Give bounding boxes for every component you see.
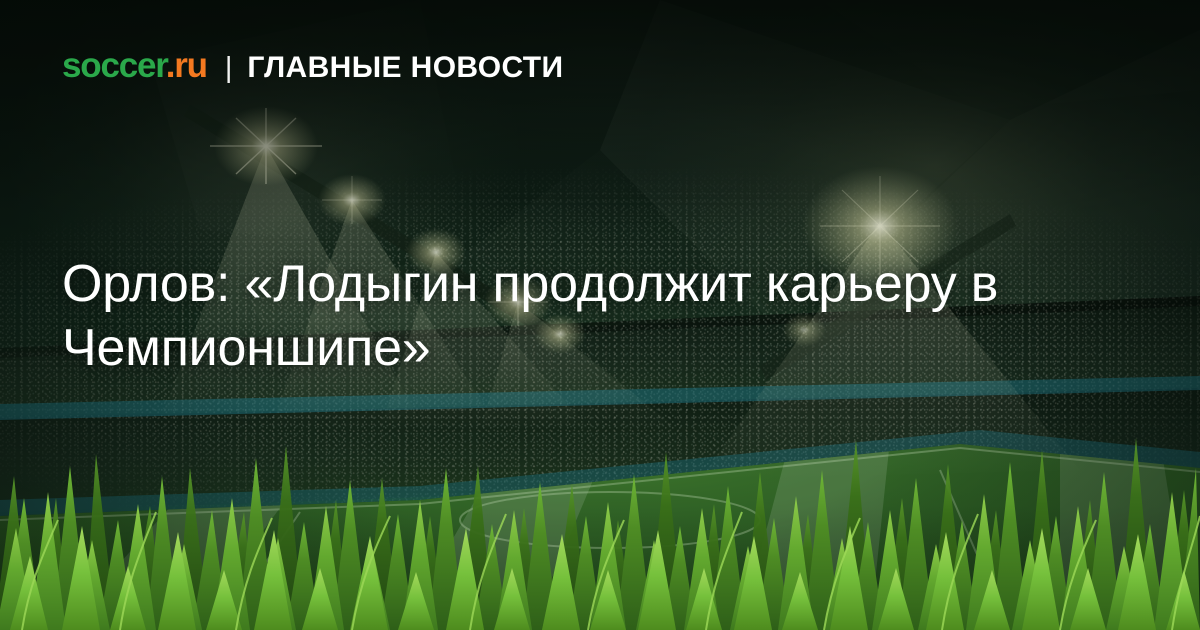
foreground-grass	[0, 380, 1200, 630]
page-title: Орлов: «Лодыгин продолжит карьеру в Чемп…	[62, 252, 1152, 380]
site-logo[interactable]: soccer.ru	[62, 48, 207, 83]
logo-name-part: soccer	[62, 46, 166, 85]
header-separator: |	[225, 54, 233, 83]
brand-header: soccer.ru | ГЛАВНЫЕ НОВОСТИ	[62, 48, 563, 83]
logo-domain-part: .ru	[166, 46, 207, 85]
news-cover-card: soccer.ru | ГЛАВНЫЕ НОВОСТИ Орлов: «Лоды…	[0, 0, 1200, 630]
header-kicker: ГЛАВНЫЕ НОВОСТИ	[247, 53, 563, 83]
